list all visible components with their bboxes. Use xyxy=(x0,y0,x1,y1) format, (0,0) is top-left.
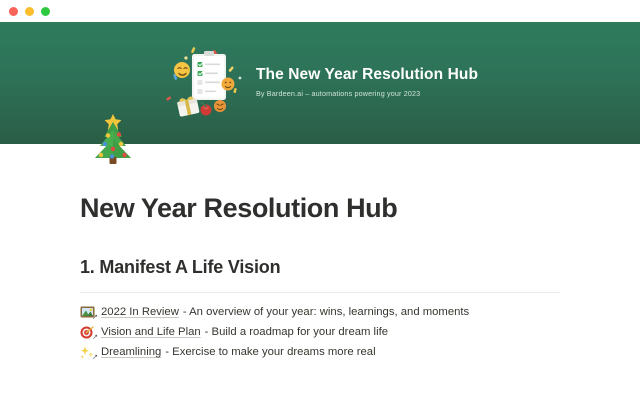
list-item[interactable]: ↗ Vision and Life Plan - Build a roadmap… xyxy=(80,322,560,342)
list-item-link[interactable]: Dreamlining xyxy=(101,346,161,358)
hero-banner-title: The New Year Resolution Hub xyxy=(256,66,478,85)
hero-banner-subtitle: By Bardeen.ai – automations powering you… xyxy=(256,89,478,98)
christmas-tree-emoji xyxy=(86,112,140,166)
app-window: The New Year Resolution Hub By Bardeen.a… xyxy=(0,0,640,400)
list-item-link[interactable]: Vision and Life Plan xyxy=(101,326,201,338)
close-window-button[interactable] xyxy=(9,7,18,16)
window-controls xyxy=(9,7,50,16)
dart-target-emoji: ↗ xyxy=(80,326,97,339)
list-item[interactable]: ↗ 2022 In Review - An overview of your y… xyxy=(80,302,560,322)
sparkles-emoji: ↗ xyxy=(80,346,97,359)
page-title: New Year Resolution Hub xyxy=(80,144,560,224)
list-item-link[interactable]: 2022 In Review xyxy=(101,306,179,318)
minimize-window-button[interactable] xyxy=(25,7,34,16)
checklist-clipboard-celebration-illustration xyxy=(162,44,248,122)
external-link-arrow-icon: ↗ xyxy=(92,314,98,321)
external-link-arrow-icon: ↗ xyxy=(92,334,98,341)
maximize-window-button[interactable] xyxy=(41,7,50,16)
hero-banner-content: The New Year Resolution Hub By Bardeen.a… xyxy=(162,44,478,122)
hero-banner-text: The New Year Resolution Hub By Bardeen.a… xyxy=(256,66,478,100)
framed-picture-emoji: ↗ xyxy=(80,306,97,319)
window-titlebar xyxy=(0,0,640,22)
list-item[interactable]: ↗ Dreamlining - Exercise to make your dr… xyxy=(80,342,560,362)
list-item-description: - An overview of your year: wins, learni… xyxy=(183,306,469,318)
list-item-description: - Exercise to make your dreams more real xyxy=(165,346,375,358)
section-heading: 1. Manifest A Life Vision xyxy=(80,224,560,278)
resolution-link-list: ↗ 2022 In Review - An overview of your y… xyxy=(80,293,560,362)
external-link-arrow-icon: ↗ xyxy=(92,354,98,361)
page-content: New Year Resolution Hub 1. Manifest A Li… xyxy=(0,144,640,400)
list-item-description: - Build a roadmap for your dream life xyxy=(205,326,388,338)
